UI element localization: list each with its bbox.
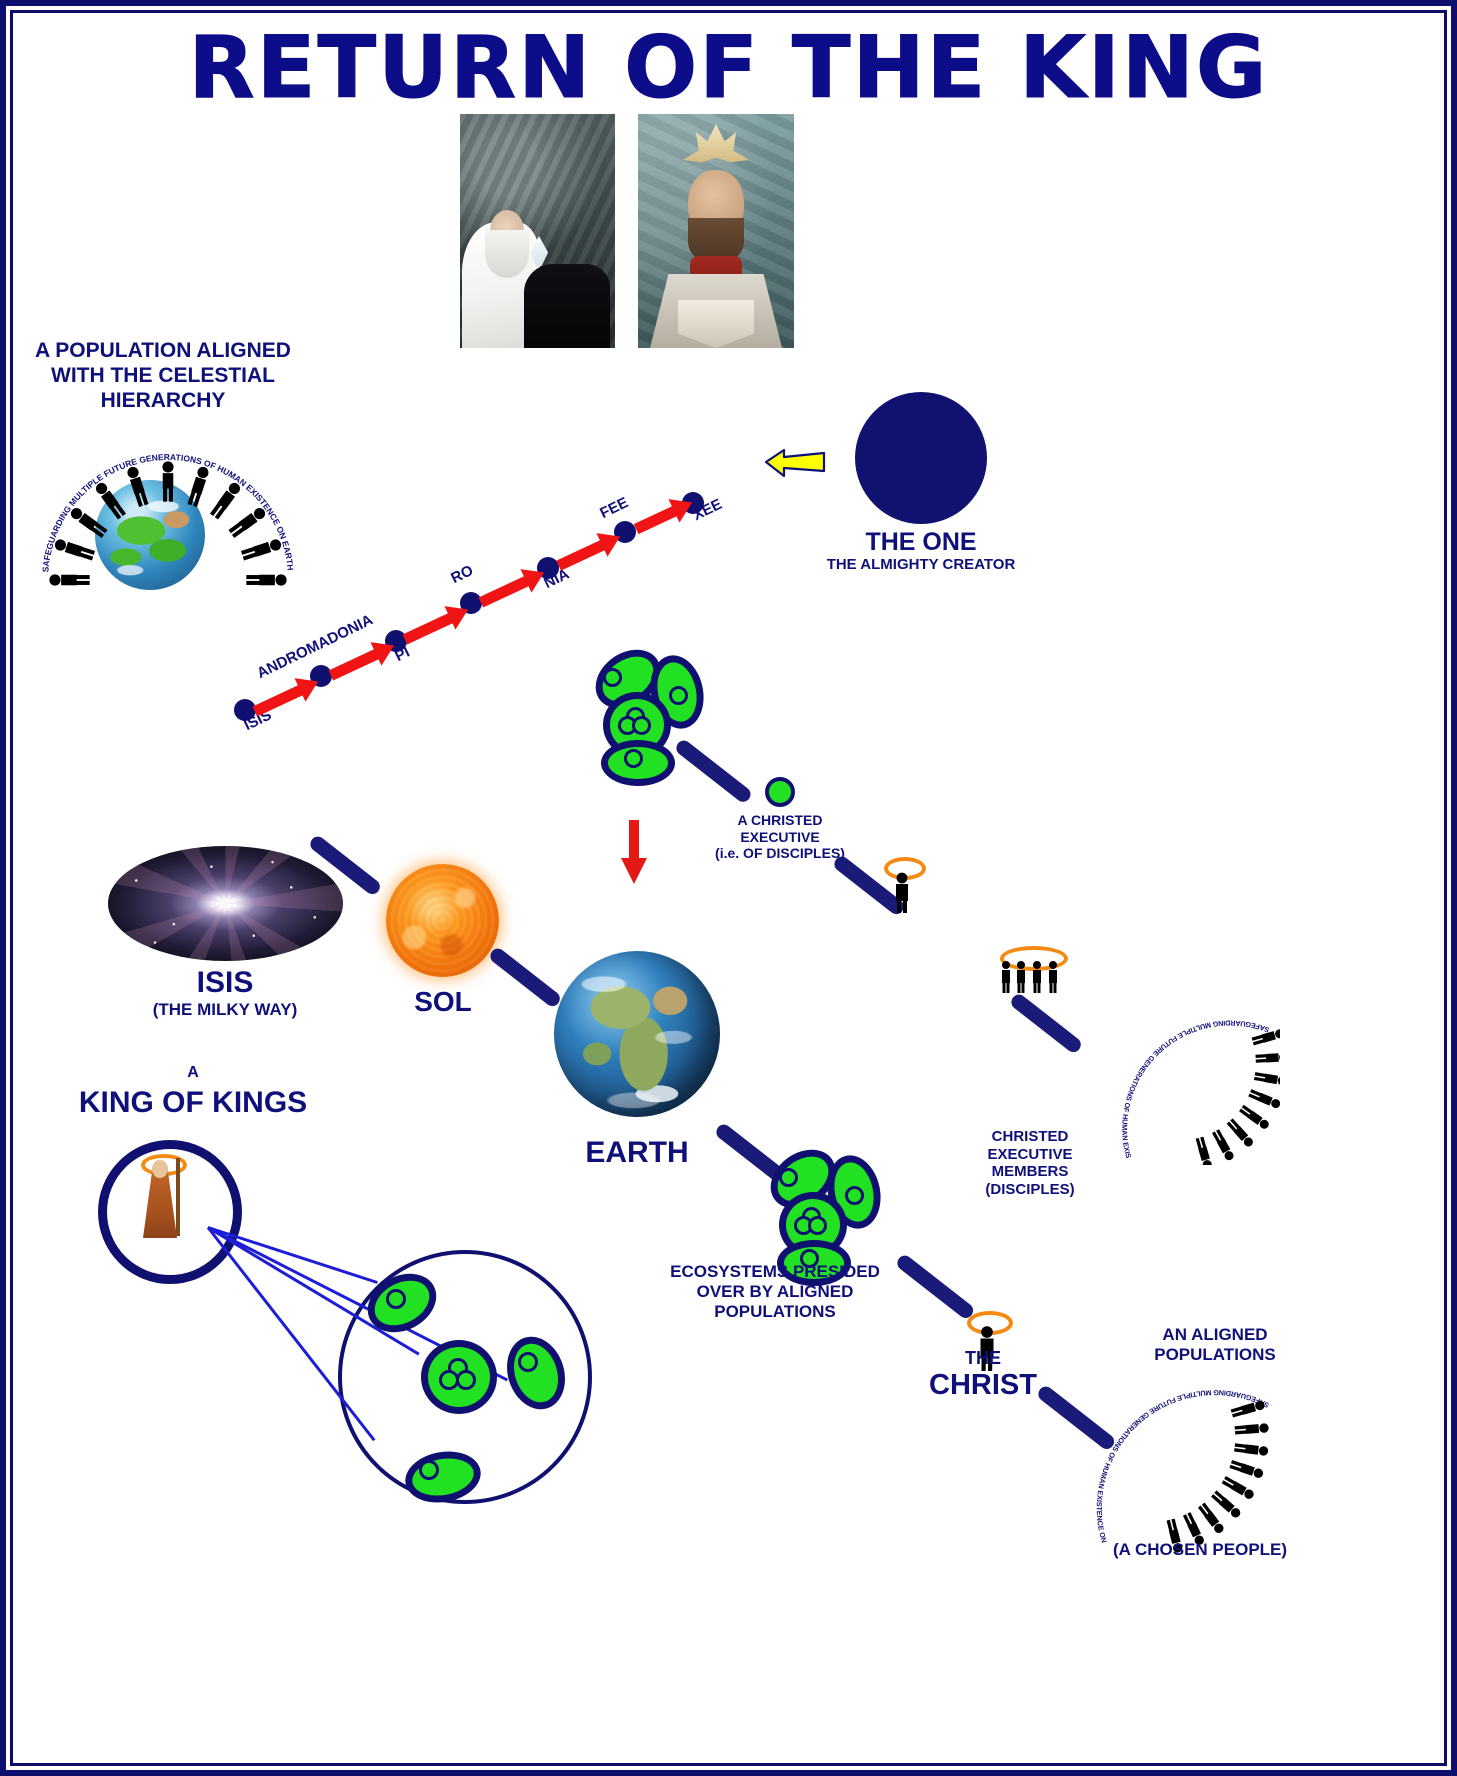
ecosystems-line3: POPULATIONS <box>650 1302 900 1322</box>
the-one-circle <box>855 392 987 524</box>
galaxy-title: ISIS <box>130 965 320 1000</box>
cell-lower-1-nucleus <box>779 1168 798 1187</box>
christed-members-line4: (DISCIPLES) <box>960 1181 1100 1199</box>
galaxy-image <box>108 846 343 961</box>
population-heading-line2: WITH THE CELESTIAL <box>18 364 308 389</box>
christed-members-line1: CHRISTED <box>960 1128 1100 1146</box>
cell-lower-3-nucleus-c <box>808 1216 827 1235</box>
the-one-subtitle: THE ALMIGHTY CREATOR <box>795 556 1047 574</box>
shepherd-staff-icon <box>176 1158 180 1236</box>
the-one-title: THE ONE <box>810 528 1032 558</box>
cell-single-executive <box>765 777 795 807</box>
page-title: RETURN OF THE KING <box>0 18 1457 118</box>
christed-executive-label: A CHRISTED EXECUTIVE (i.e. OF DISCIPLES) <box>690 812 870 862</box>
christed-executive-line3: (i.e. OF DISCIPLES) <box>690 845 870 862</box>
aligned-population-arc-bottom: SAFEGUARDING MULTIPLE FUTURE GENERATIONS… <box>1080 1375 1280 1555</box>
christed-members-line3: MEMBERS <box>960 1163 1100 1181</box>
earth-clouds <box>554 951 720 1117</box>
cell-upper-4-nucleus <box>624 749 643 768</box>
svg-text:SAFEGUARDING MULTIPLE FUTURE G: SAFEGUARDING MULTIPLE FUTURE GENERATIONS… <box>1080 1375 1270 1544</box>
population-arc-figures: SAFEGUARDING MULTIPLE FUTURE GENERATIONS… <box>38 430 298 610</box>
christed-executive-line1: A CHRISTED <box>690 812 870 829</box>
population-heading-line1: A POPULATION ALIGNED <box>18 339 308 364</box>
red-down-arrow-icon <box>620 820 648 886</box>
population-aligned-heading: A POPULATION ALIGNED WITH THE CELESTIAL … <box>18 339 308 413</box>
cell-magnified-1-nucleus <box>386 1289 406 1309</box>
cell-magnified-2-nucleus-c <box>456 1370 476 1390</box>
cell-lower-2-nucleus <box>845 1186 864 1205</box>
sun-surface-detail <box>386 864 499 977</box>
cell-magnified-4-nucleus <box>419 1460 439 1480</box>
christed-executive-line2: EXECUTIVE <box>690 829 870 846</box>
infographic-canvas: RETURN OF THE KING A POPULATION ALIGNED … <box>0 0 1457 1776</box>
yellow-arrow-icon <box>764 447 826 479</box>
the-christ-line2: CHRIST <box>900 1368 1066 1402</box>
ecosystems-line2: OVER BY ALIGNED <box>650 1282 900 1302</box>
galaxy-subtitle: (THE MILKY WAY) <box>118 1000 332 1020</box>
aligned-population-arc-top: SAFEGUARDING MULTIPLE FUTURE GENERATIONS… <box>1100 1005 1280 1165</box>
king-head <box>152 1160 168 1178</box>
galaxy-stars <box>108 846 343 961</box>
earth-title: EARTH <box>540 1135 734 1170</box>
ecosystems-line1: ECOSYSTEMS PRESIDED <box>650 1262 900 1282</box>
ecosystems-label: ECOSYSTEMS PRESIDED OVER BY ALIGNED POPU… <box>650 1262 900 1322</box>
aligned-populations-label: AN ALIGNED POPULATIONS <box>1120 1325 1310 1365</box>
person-group-icon-members <box>998 960 1062 994</box>
cell-upper-3-nucleus-c <box>632 716 651 735</box>
king-of-kings-line2: KING OF KINGS <box>40 1085 346 1120</box>
gandalf-photo <box>460 114 615 348</box>
christed-members-label: CHRISTED EXECUTIVE MEMBERS (DISCIPLES) <box>960 1128 1100 1199</box>
gandalf-dark-figure <box>524 264 610 348</box>
sun-image <box>386 864 499 977</box>
earth-image <box>554 951 720 1117</box>
the-christ-line1: THE <box>910 1348 1056 1369</box>
christed-members-line2: EXECUTIVE <box>960 1146 1100 1164</box>
chosen-people-label: (A CHOSEN PEOPLE) <box>1060 1540 1340 1560</box>
aligned-populations-line2: POPULATIONS <box>1120 1345 1310 1365</box>
person-icon-executive <box>890 872 914 914</box>
king-of-kings-line1: A <box>98 1064 288 1083</box>
aligned-populations-line1: AN ALIGNED <box>1120 1325 1310 1345</box>
cell-upper-1-nucleus <box>603 668 622 687</box>
cell-magnified-3-nucleus <box>518 1352 538 1372</box>
aragorn-photo <box>638 114 794 348</box>
population-heading-line3: HIERARCHY <box>18 389 308 414</box>
gandalf-beard <box>485 230 529 278</box>
sun-title: SOL <box>348 985 538 1018</box>
cell-upper-2-nucleus <box>669 686 688 705</box>
